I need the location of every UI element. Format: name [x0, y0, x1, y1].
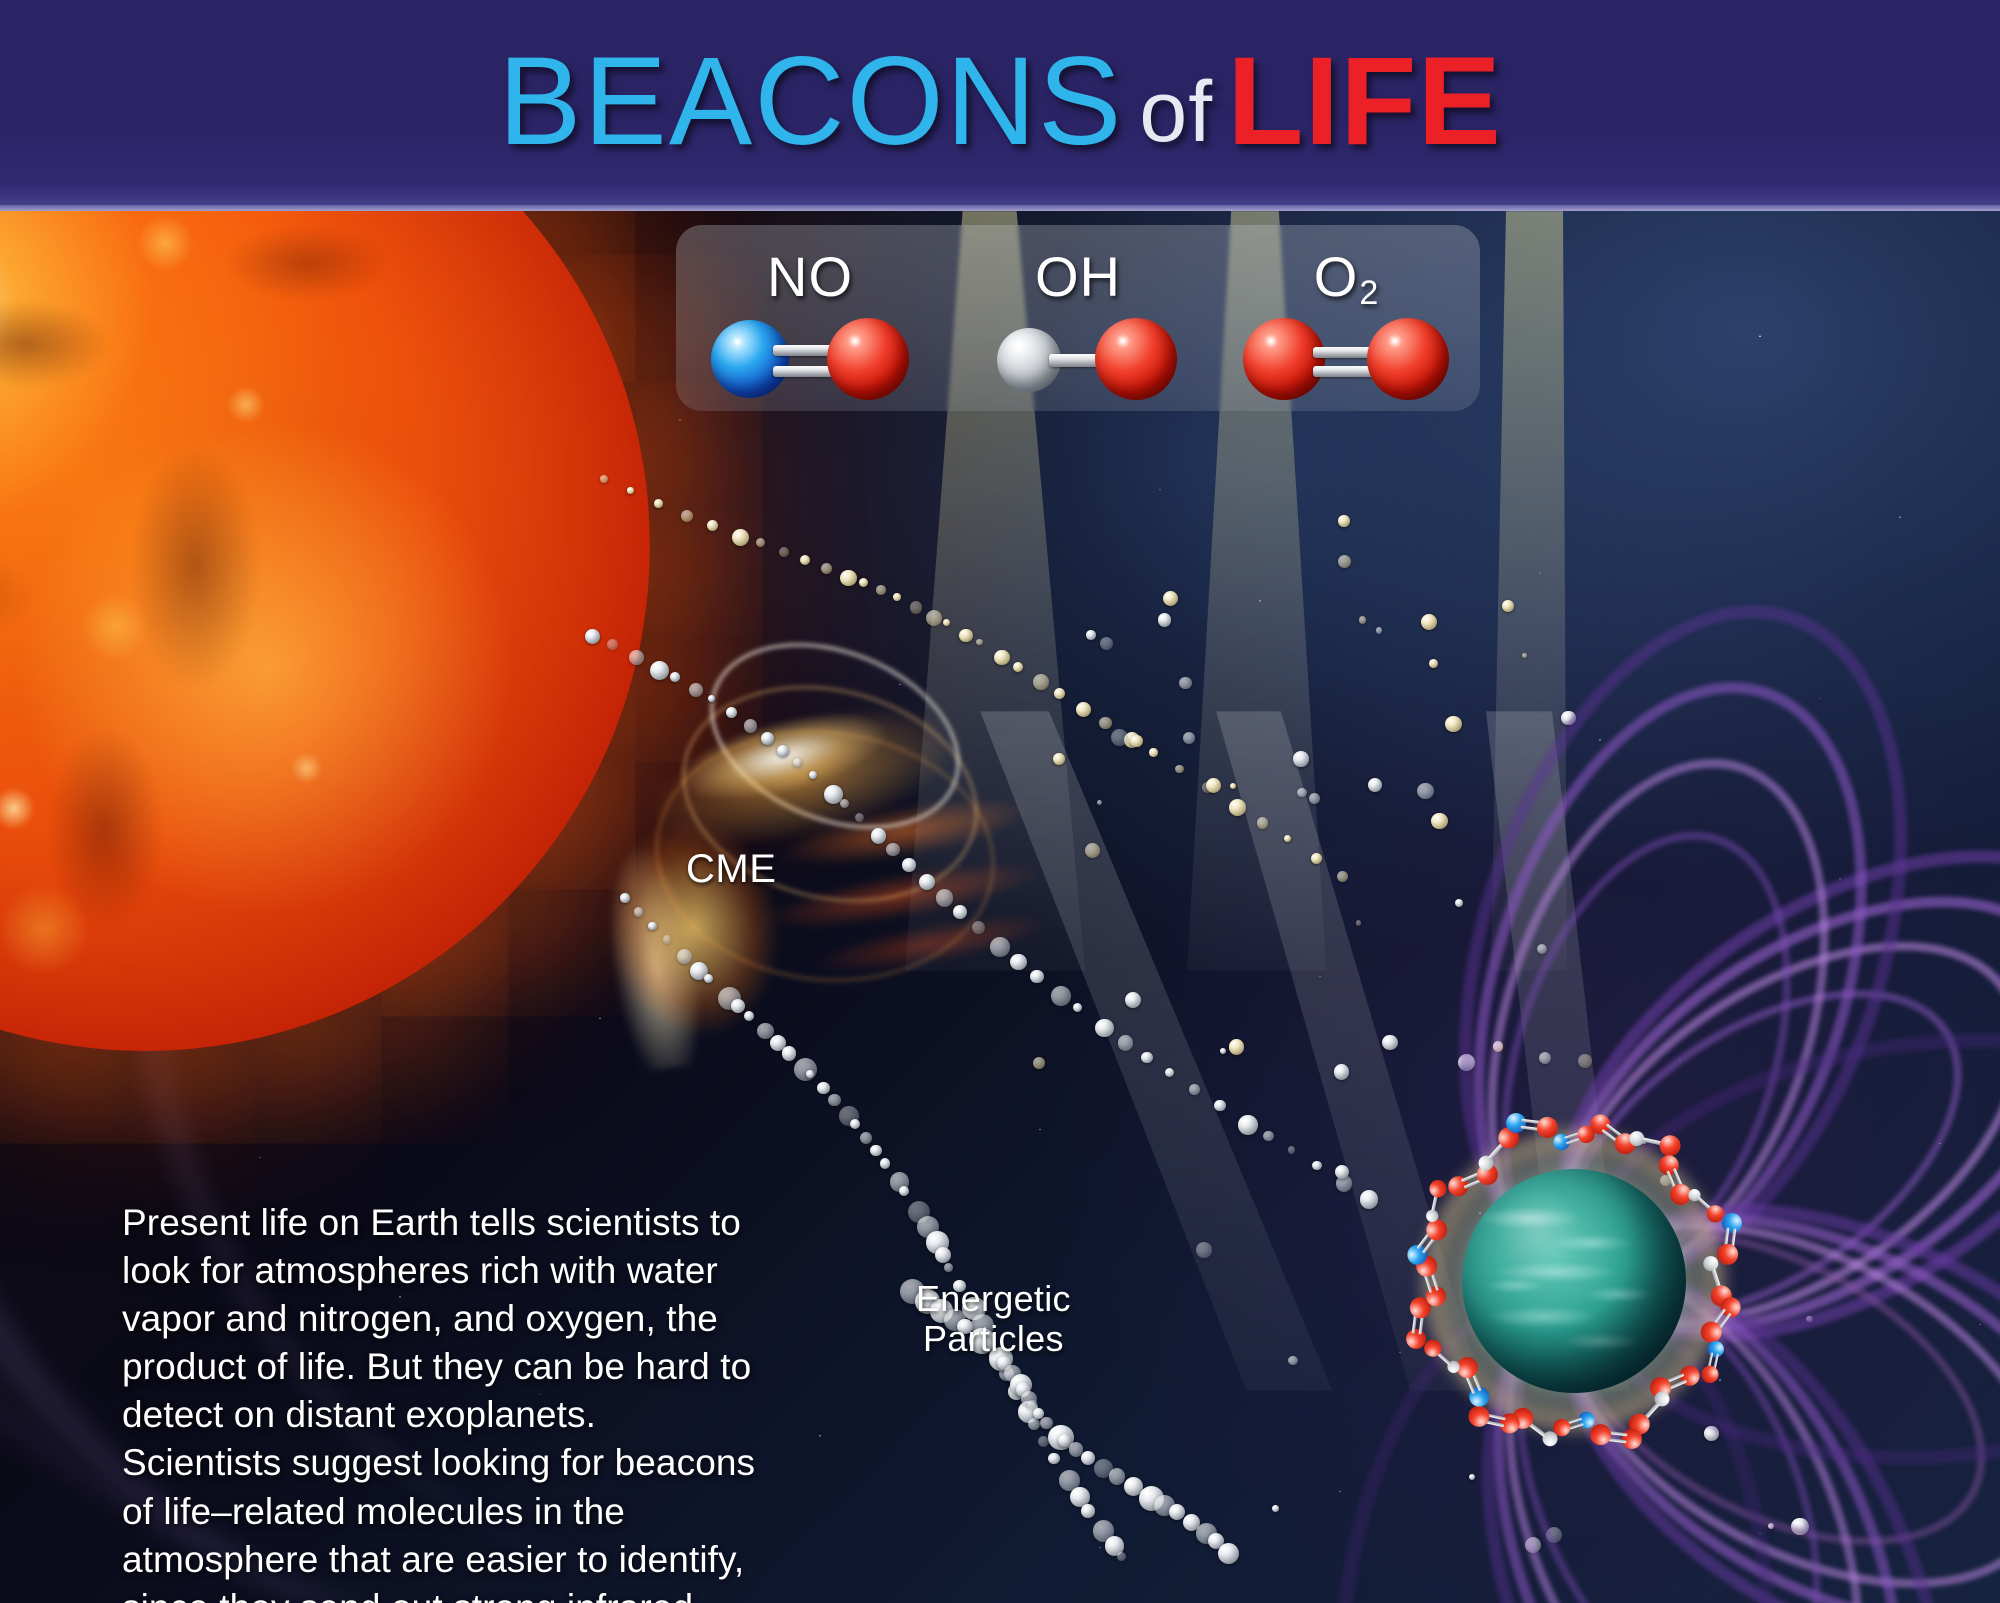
- energetic-particle: [689, 683, 703, 697]
- energetic-particle: [629, 650, 644, 665]
- energetic-particle: [870, 1145, 881, 1156]
- energetic-particle: [944, 1263, 953, 1272]
- molecule-label-no: NO: [767, 249, 853, 305]
- energetic-particle: [654, 499, 663, 508]
- energetic-particle: [1109, 1468, 1126, 1485]
- exoplanet-system: [1190, 961, 2000, 1603]
- energetic-particle: [1054, 688, 1065, 699]
- orbiting-atom: [1620, 1427, 1642, 1449]
- energetic-particle: [1117, 1552, 1126, 1561]
- energetic-particle: [1130, 735, 1143, 748]
- title-word-of: of: [1139, 64, 1213, 160]
- energetic-particle: [828, 1094, 840, 1106]
- energetic-particle: [779, 547, 789, 557]
- energetic-particle: [708, 695, 715, 702]
- energetic-particle: [876, 585, 885, 594]
- molecule-item-no: NO: [676, 225, 944, 411]
- energetic-particle: [817, 1082, 829, 1094]
- energetic-particle: [840, 799, 849, 808]
- energetic-particle: [1081, 1504, 1094, 1517]
- energetic-particle: [1169, 1504, 1185, 1520]
- energetic-particle: [943, 619, 950, 626]
- sun-granulation-texture: [0, 211, 650, 1051]
- molecule-diagram-no: [705, 314, 915, 400]
- energetic-particle: [990, 937, 1010, 957]
- planet-terminator-shading: [1462, 1169, 1686, 1393]
- coronal-mass-ejection: [585, 641, 1055, 1061]
- energetic-particle: [1309, 793, 1320, 804]
- label-energetic-particles: Energetic Particles: [916, 1279, 1071, 1360]
- energetic-particle: [1033, 1057, 1045, 1069]
- exoplanet: [1462, 1169, 1686, 1393]
- energetic-particle: [1081, 1451, 1095, 1465]
- energetic-particle: [1033, 674, 1049, 690]
- molecule-diagram-oh: [973, 314, 1183, 400]
- energetic-particle: [936, 889, 953, 906]
- molecule-item-oh: OH: [944, 225, 1212, 411]
- energetic-particle: [855, 813, 864, 822]
- energetic-particle: [1013, 662, 1023, 672]
- label-energetic-particles-line2: Particles: [916, 1319, 1071, 1359]
- energetic-particle: [1417, 783, 1433, 799]
- energetic-particle: [1141, 1052, 1153, 1064]
- energetic-particle: [677, 949, 693, 965]
- energetic-particle: [663, 935, 672, 944]
- energetic-particle: [704, 974, 713, 983]
- energetic-particle: [1030, 970, 1044, 984]
- energetic-particle: [1431, 813, 1448, 830]
- energetic-particle: [1293, 751, 1309, 767]
- energetic-particle: [821, 563, 832, 574]
- energetic-particle: [707, 520, 718, 531]
- energetic-particle: [1311, 853, 1322, 864]
- energetic-particle: [1421, 614, 1437, 630]
- energetic-particle: [871, 828, 887, 844]
- energetic-particle: [620, 893, 630, 903]
- energetic-particle: [650, 661, 669, 680]
- energetic-particle: [1284, 835, 1291, 842]
- energetic-particle: [850, 1119, 861, 1130]
- energetic-particle: [1086, 630, 1096, 640]
- energetic-particle: [860, 1132, 872, 1144]
- energetic-particle: [1445, 716, 1461, 732]
- energetic-particle: [1118, 1035, 1133, 1050]
- molecule-subscript-o2: 2: [1359, 274, 1379, 312]
- body-paragraph: Present life on Earth tells scientists t…: [122, 1199, 762, 1603]
- orbiting-atom: [1505, 1112, 1527, 1134]
- star-sun: [0, 211, 650, 1051]
- energetic-particle: [1229, 799, 1246, 816]
- molecule-panel: NO OH: [676, 225, 1480, 411]
- energetic-particle: [919, 874, 935, 890]
- energetic-particle: [1206, 778, 1221, 793]
- energetic-particle: [1051, 986, 1071, 1006]
- energetic-particle: [782, 1046, 796, 1060]
- energetic-particle: [800, 555, 810, 565]
- energetic-particle: [1099, 717, 1112, 730]
- energetic-particle: [886, 843, 899, 856]
- orbiting-atom: [1405, 1327, 1427, 1349]
- energetic-particle: [670, 672, 680, 682]
- energetic-particle: [972, 921, 985, 934]
- energetic-particle: [1429, 659, 1438, 668]
- energetic-particle: [1125, 992, 1141, 1008]
- energetic-particle: [726, 707, 737, 718]
- energetic-particle: [1010, 954, 1027, 971]
- orbiting-atom: [1466, 1404, 1491, 1429]
- energetic-particle: [976, 639, 982, 645]
- energetic-particle: [648, 922, 657, 931]
- energetic-particle: [899, 1186, 909, 1196]
- energetic-particle: [859, 578, 868, 587]
- energetic-particle: [1048, 1453, 1059, 1464]
- energetic-particle: [893, 593, 901, 601]
- energetic-particle: [1183, 732, 1195, 744]
- energetic-particle: [681, 510, 693, 522]
- molecule-item-o2: O2: [1212, 225, 1480, 411]
- energetic-particle: [953, 905, 967, 919]
- energetic-particle: [585, 629, 600, 644]
- energetic-particle: [793, 758, 802, 767]
- energetic-particle: [840, 570, 856, 586]
- energetic-particle: [744, 719, 758, 733]
- energetic-particle: [1111, 729, 1128, 746]
- energetic-particle: [1356, 920, 1361, 925]
- energetic-particle: [1053, 753, 1065, 765]
- energetic-particle: [1165, 1068, 1174, 1077]
- energetic-particle: [1179, 677, 1191, 689]
- title-word-beacons: BEACONS: [498, 32, 1123, 171]
- atom-nitrogen: [711, 320, 789, 398]
- energetic-particle: [1163, 591, 1178, 606]
- energetic-particle: [732, 529, 749, 546]
- energetic-particle: [935, 1247, 951, 1263]
- molecule-label-o2: O2: [1314, 249, 1378, 305]
- energetic-particle: [1338, 515, 1349, 526]
- infographic-root: BEACONSofLIFE: [0, 0, 2000, 1603]
- orbiting-atom: [1536, 1116, 1559, 1139]
- energetic-particle: [1095, 1019, 1113, 1037]
- energetic-particle: [1502, 600, 1514, 612]
- energetic-particle: [627, 487, 633, 493]
- energetic-particle: [1028, 1418, 1040, 1430]
- energetic-particle: [1522, 653, 1527, 658]
- energetic-particle: [777, 745, 789, 757]
- energetic-particle: [1337, 871, 1348, 882]
- atom-oxygen-no: [827, 318, 909, 400]
- label-energetic-particles-line1: Energetic: [916, 1279, 1071, 1319]
- energetic-particle: [1040, 1417, 1053, 1430]
- energetic-particle: [1257, 817, 1269, 829]
- label-cme: CME: [686, 847, 776, 892]
- energetic-particle: [1097, 800, 1102, 805]
- energetic-particle: [1073, 1003, 1082, 1012]
- energetic-particle: [1376, 627, 1382, 633]
- energetic-particle: [880, 1158, 890, 1168]
- atom-oxygen-o2-left: [1243, 318, 1325, 400]
- energetic-particle: [600, 475, 608, 483]
- energetic-particle: [1230, 783, 1236, 789]
- space-scene: NO OH: [0, 211, 2000, 1603]
- energetic-particle: [1175, 765, 1184, 774]
- energetic-particle: [1085, 843, 1100, 858]
- energetic-particle: [1149, 748, 1157, 756]
- energetic-particle: [1368, 778, 1382, 792]
- cme-loop-inner: [683, 608, 988, 863]
- energetic-particle: [994, 650, 1009, 665]
- title-word-life: LIFE: [1227, 32, 1502, 171]
- energetic-particle: [809, 771, 817, 779]
- energetic-particle: [902, 858, 915, 871]
- title-bar: BEACONSofLIFE: [0, 0, 2000, 211]
- energetic-particle: [959, 629, 973, 643]
- energetic-particle: [744, 1011, 754, 1021]
- energetic-particle: [1297, 788, 1307, 798]
- energetic-particle: [1158, 613, 1172, 627]
- atom-oxygen-oh: [1095, 318, 1177, 400]
- energetic-particle: [794, 1058, 817, 1081]
- energetic-particle: [1338, 555, 1351, 568]
- energetic-particle: [1076, 702, 1091, 717]
- energetic-particle: [910, 601, 922, 613]
- energetic-particle: [1359, 616, 1367, 624]
- orbiting-atom: [1720, 1212, 1742, 1234]
- molecule-label-oh: OH: [1035, 249, 1121, 305]
- molecule-diagram-o2: [1241, 314, 1451, 400]
- page-title: BEACONSofLIFE: [498, 39, 1502, 164]
- energetic-particle: [1455, 899, 1463, 907]
- energetic-particle: [756, 538, 765, 547]
- energetic-particle: [926, 610, 942, 626]
- energetic-particle: [761, 732, 775, 746]
- energetic-particle: [1100, 637, 1113, 650]
- atom-oxygen-o2-right: [1367, 318, 1449, 400]
- energetic-particle: [731, 999, 745, 1013]
